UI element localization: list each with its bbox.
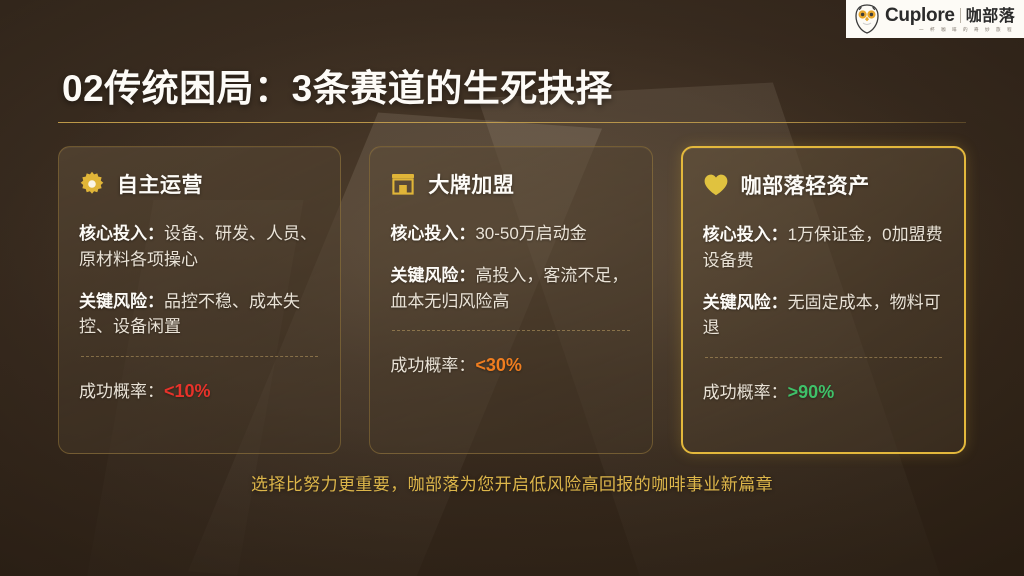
card-probability-label: 成功概率： bbox=[79, 382, 164, 401]
card-brand-franchise[interactable]: 大牌加盟 核心投入：30-50万启动金 关键风险：高投入，客流不足，血本无归风险… bbox=[369, 146, 652, 454]
card-probability-value: >90% bbox=[788, 382, 835, 402]
card-invest-row: 核心投入：设备、研发、人员、原材料各项操心 bbox=[79, 221, 320, 273]
card-header: 咖部落轻资产 bbox=[703, 170, 944, 200]
card-risk-row: 关键风险：无固定成本，物料可退 bbox=[703, 290, 944, 342]
card-risk-row: 关键风险：高投入，客流不足，血本无归风险高 bbox=[390, 263, 631, 315]
logo-name-en: Cuplore bbox=[885, 6, 955, 25]
logo-tagline: 一杯咖啡的奇妙旅程 bbox=[919, 28, 1018, 33]
card-title: 自主运营 bbox=[117, 169, 203, 199]
card-invest-row: 核心投入：30-50万启动金 bbox=[390, 221, 631, 247]
card-invest-label: 核心投入： bbox=[79, 224, 164, 243]
card-invest-row: 核心投入：1万保证金，0加盟费设备费 bbox=[703, 222, 944, 274]
card-probability-label: 成功概率： bbox=[390, 356, 475, 375]
card-divider bbox=[392, 330, 629, 331]
owl-icon bbox=[854, 4, 880, 34]
card-invest-value: 30-50万启动金 bbox=[475, 224, 586, 243]
card-header: 自主运营 bbox=[79, 169, 320, 199]
card-probability-label: 成功概率： bbox=[703, 383, 788, 402]
card-probability-row: 成功概率：>90% bbox=[703, 378, 944, 403]
card-probability-value: <30% bbox=[475, 355, 522, 375]
card-risk-row: 关键风险：品控不稳、成本失控、设备闲置 bbox=[79, 289, 320, 341]
card-risk-label: 关键风险： bbox=[390, 266, 475, 285]
store-icon bbox=[390, 171, 416, 197]
card-probability-value: <10% bbox=[164, 381, 211, 401]
card-probability-row: 成功概率：<10% bbox=[79, 377, 320, 402]
brand-logo: Cuplore 咖部落 一杯咖啡的奇妙旅程 bbox=[846, 0, 1024, 38]
card-invest-label: 核心投入： bbox=[390, 224, 475, 243]
title-divider bbox=[58, 122, 966, 123]
heart-icon bbox=[703, 172, 729, 198]
card-divider bbox=[81, 356, 318, 357]
page-title: 02传统困局：3条赛道的生死抉择 bbox=[62, 58, 613, 112]
gear-icon bbox=[79, 171, 105, 197]
card-risk-label: 关键风险： bbox=[79, 292, 164, 311]
card-invest-label: 核心投入： bbox=[703, 225, 788, 244]
card-cuplore-light-asset[interactable]: 咖部落轻资产 核心投入：1万保证金，0加盟费设备费 关键风险：无固定成本，物料可… bbox=[681, 146, 966, 454]
card-header: 大牌加盟 bbox=[390, 169, 631, 199]
card-title: 大牌加盟 bbox=[428, 169, 514, 199]
card-risk-label: 关键风险： bbox=[703, 293, 788, 312]
card-divider bbox=[705, 357, 942, 358]
card-title: 咖部落轻资产 bbox=[741, 170, 870, 200]
card-probability-row: 成功概率：<30% bbox=[390, 351, 631, 376]
logo-divider bbox=[960, 8, 961, 23]
comparison-cards: 自主运营 核心投入：设备、研发、人员、原材料各项操心 关键风险：品控不稳、成本失… bbox=[58, 146, 966, 454]
footer-tagline: 选择比努力更重要，咖部落为您开启低风险高回报的咖啡事业新篇章 bbox=[0, 470, 1024, 495]
logo-name-cn: 咖部落 bbox=[966, 9, 1016, 25]
card-self-operation[interactable]: 自主运营 核心投入：设备、研发、人员、原材料各项操心 关键风险：品控不稳、成本失… bbox=[58, 146, 341, 454]
